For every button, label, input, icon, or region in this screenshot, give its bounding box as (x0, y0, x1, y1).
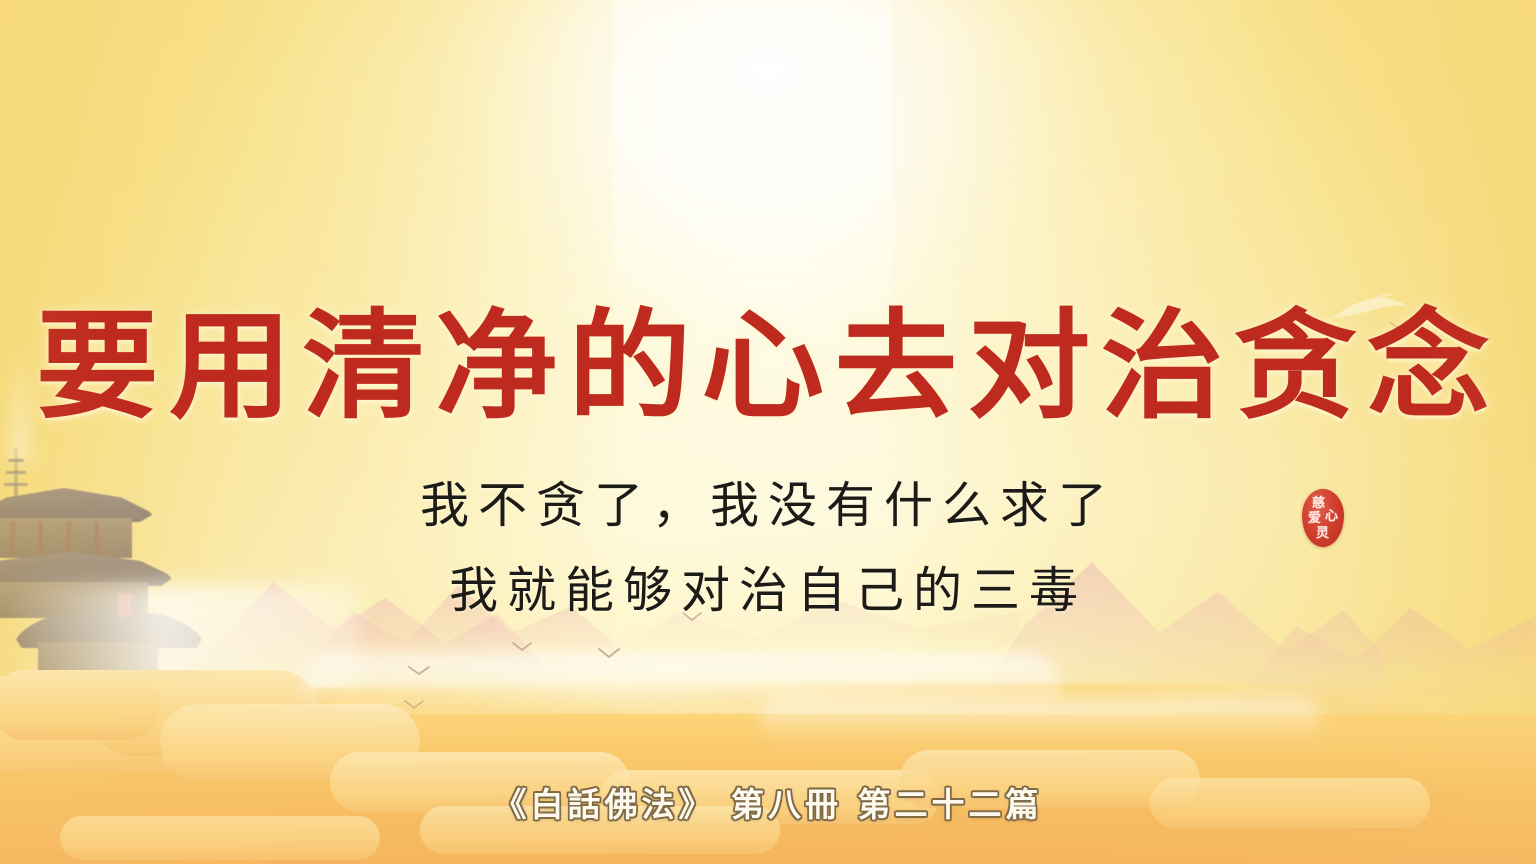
golden-cloud-field (0, 634, 1536, 864)
subtitle-line-2: 我就能够对治自己的三毒 (0, 548, 1536, 633)
page-title: 要用清净的心去对治贪念 (0, 300, 1536, 432)
seal-char-3: 心 (1325, 510, 1338, 523)
cloud-haze (760, 696, 1320, 744)
pagoda-spire-ring (8, 459, 24, 462)
cloud-puff (0, 670, 160, 740)
bird-icon (404, 700, 424, 710)
bird-icon (408, 666, 430, 676)
seal-char-1: 慈 (1312, 497, 1325, 510)
red-seal-stamp: 慈 心 爱 灵 (1302, 489, 1344, 547)
source-citation: 《白話佛法》 第八冊 第二十二篇 (0, 778, 1536, 826)
bird-icon (598, 648, 620, 659)
bird-icon (512, 642, 532, 652)
seal-char-2: 爱 (1308, 512, 1321, 525)
seal-char-4: 灵 (1316, 527, 1329, 540)
seal-inner: 慈 心 爱 灵 (1302, 489, 1344, 547)
poster-canvas: 要用清净的心去对治贪念 我不贪了，我没有什么求了 我就能够对治自己的三毒 慈 心… (0, 0, 1536, 864)
